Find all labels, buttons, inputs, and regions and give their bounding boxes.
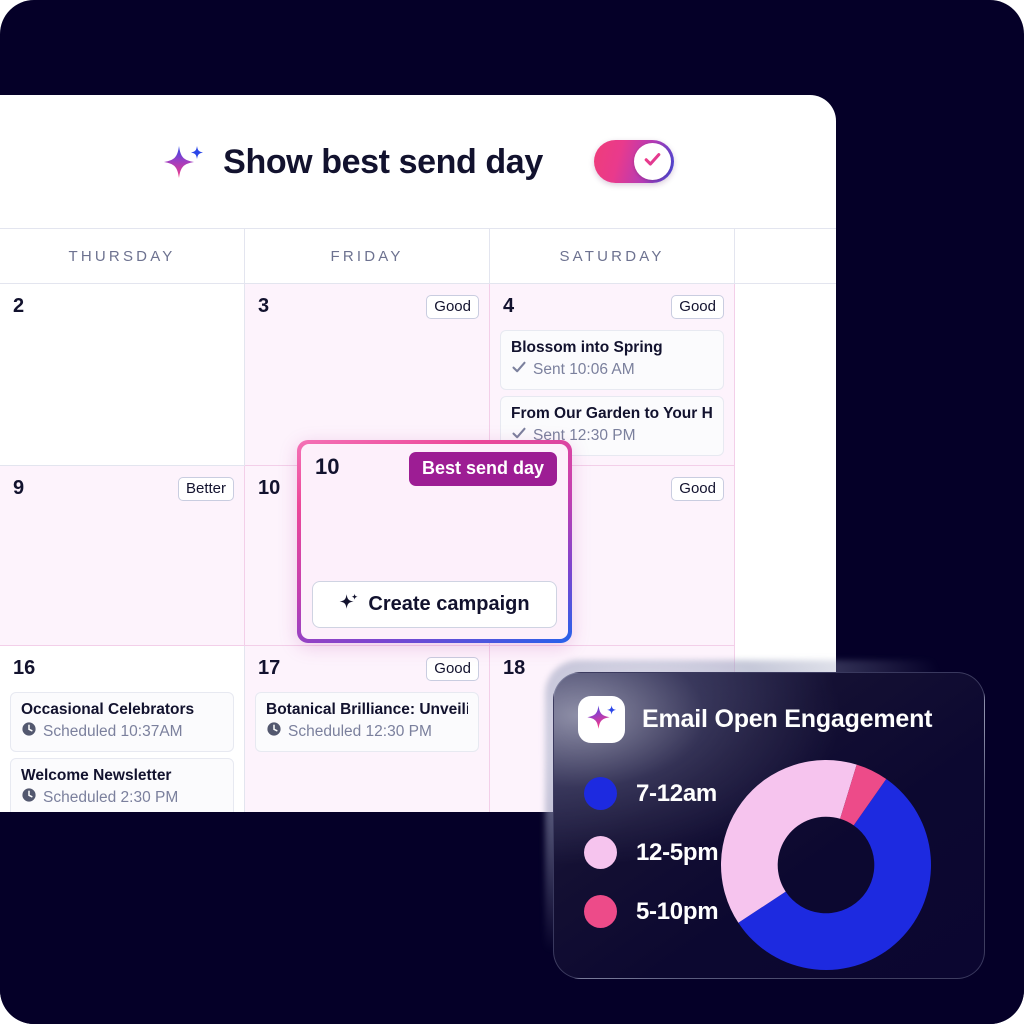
chart-body: 7-12am 12-5pm 5-10pm [554, 743, 984, 976]
best-send-day-cell-body: 10 Best send day Create campaign [301, 444, 568, 639]
day-cell-header: 16 [10, 657, 234, 683]
calendar-day-cell[interactable]: 16 Occasional Celebrators Scheduled 10:3… [0, 646, 245, 813]
chart-sparkle-icon-tile [578, 696, 625, 743]
dow-cell-friday: FRIDAY [245, 229, 490, 284]
event-meta: Scheduled 2:30 PM [21, 787, 223, 808]
dow-label: SATURDAY [559, 248, 664, 265]
create-campaign-label: Create campaign [368, 593, 529, 616]
legend-item[interactable]: 7-12am [584, 777, 718, 810]
calendar-event[interactable]: Welcome Newsletter Scheduled 2:30 PM [10, 758, 234, 813]
calendar-week-row: 2 3 Good 4 Good Bloss [0, 284, 836, 466]
day-number: 17 [258, 658, 280, 678]
calendar-day-cell[interactable]: 9 Better [0, 466, 245, 646]
best-send-day-badge: Best send day [409, 452, 557, 486]
day-number: 16 [13, 658, 35, 678]
clock-icon [21, 721, 37, 742]
donut-chart-svg [720, 759, 932, 971]
day-cell-header: 9 Better [10, 477, 234, 503]
day-number: 4 [503, 296, 514, 316]
event-title: From Our Garden to Your H... [511, 404, 713, 423]
calendar-event[interactable]: Occasional Celebrators Scheduled 10:37AM [10, 692, 234, 752]
calendar-day-cell[interactable]: 17 Good Botanical Brilliance: Unveili...… [245, 646, 490, 813]
send-quality-badge: Good [426, 657, 479, 681]
day-number: 18 [503, 658, 525, 678]
event-meta-text: Scheduled 2:30 PM [43, 788, 178, 807]
legend-color-swatch [584, 836, 617, 869]
check-icon [511, 359, 527, 380]
sparkle-icon [162, 140, 206, 184]
clock-icon [266, 721, 282, 742]
day-cell-header: 17 Good [255, 657, 479, 683]
check-icon [642, 149, 663, 175]
calendar-event[interactable]: Blossom into Spring Sent 10:06 AM [500, 330, 724, 390]
legend-color-swatch [584, 777, 617, 810]
legend-label: 5-10pm [636, 898, 718, 926]
event-meta: Scheduled 10:37AM [21, 721, 223, 742]
legend-item[interactable]: 5-10pm [584, 895, 718, 928]
event-meta-text: Sent 10:06 AM [533, 360, 635, 379]
calendar-day-cell[interactable]: 3 Good [245, 284, 490, 466]
send-quality-badge: Good [426, 295, 479, 319]
calendar-event[interactable]: Botanical Brilliance: Unveili... Schedul… [255, 692, 479, 752]
dow-label: FRIDAY [330, 248, 403, 265]
page-title: Show best send day [223, 145, 543, 179]
event-title: Welcome Newsletter [21, 766, 223, 785]
app-header: Show best send day [0, 95, 836, 228]
toggle-knob [634, 143, 671, 180]
email-open-engagement-card: Email Open Engagement 7-12am 12-5pm 5-10… [553, 672, 985, 979]
day-number: 10 [315, 454, 339, 480]
legend-label: 12-5pm [636, 839, 718, 867]
create-campaign-button[interactable]: Create campaign [312, 581, 557, 628]
event-list: Occasional Celebrators Scheduled 10:37AM… [10, 692, 234, 813]
legend-color-swatch [584, 895, 617, 928]
event-meta-text: Scheduled 12:30 PM [288, 722, 432, 741]
day-cell-header: 2 [10, 295, 234, 321]
event-meta: Scheduled 12:30 PM [266, 721, 468, 742]
calendar-dow-header: THURSDAY FRIDAY SATURDAY [0, 228, 836, 284]
screenshot-root: Show best send day [0, 0, 1024, 1024]
day-number: 2 [13, 296, 24, 316]
event-meta-text: Scheduled 10:37AM [43, 722, 183, 741]
show-best-send-day-toggle[interactable] [594, 140, 674, 183]
clock-icon [21, 787, 37, 808]
day-cell-header: 4 Good [500, 295, 724, 321]
chart-title: Email Open Engagement [642, 705, 932, 734]
day-number: 3 [258, 296, 269, 316]
event-meta: Sent 10:06 AM [511, 359, 713, 380]
day-number: 9 [13, 478, 24, 498]
calendar-day-cell[interactable]: 4 Good Blossom into Spring Sent 10:06 AM [490, 284, 735, 466]
day-cell-header: 3 Good [255, 295, 479, 321]
send-quality-badge: Good [671, 477, 724, 501]
dow-label: THURSDAY [69, 248, 176, 265]
chart-legend: 7-12am 12-5pm 5-10pm [554, 765, 718, 976]
calendar-day-cell[interactable]: 2 [0, 284, 245, 466]
chart-card-header: Email Open Engagement [554, 673, 984, 743]
sparkle-icon [586, 701, 618, 738]
event-list: Botanical Brilliance: Unveili... Schedul… [255, 692, 479, 752]
sparkle-icon [339, 592, 359, 618]
legend-label: 7-12am [636, 780, 717, 808]
day-number: 10 [258, 478, 280, 498]
event-list: Blossom into Spring Sent 10:06 AM From O… [500, 330, 724, 456]
best-send-day-highlight[interactable]: 10 Best send day Create campaign [297, 440, 572, 643]
dow-cell-saturday: SATURDAY [490, 229, 735, 284]
send-quality-badge: Better [178, 477, 234, 501]
send-quality-badge: Good [671, 295, 724, 319]
best-send-day-header: 10 Best send day [312, 454, 557, 486]
event-title: Occasional Celebrators [21, 700, 223, 719]
event-title: Blossom into Spring [511, 338, 713, 357]
event-title: Botanical Brilliance: Unveili... [266, 700, 468, 719]
legend-item[interactable]: 12-5pm [584, 836, 718, 869]
donut-chart[interactable] [720, 759, 932, 976]
dow-cell-thursday: THURSDAY [0, 229, 245, 284]
